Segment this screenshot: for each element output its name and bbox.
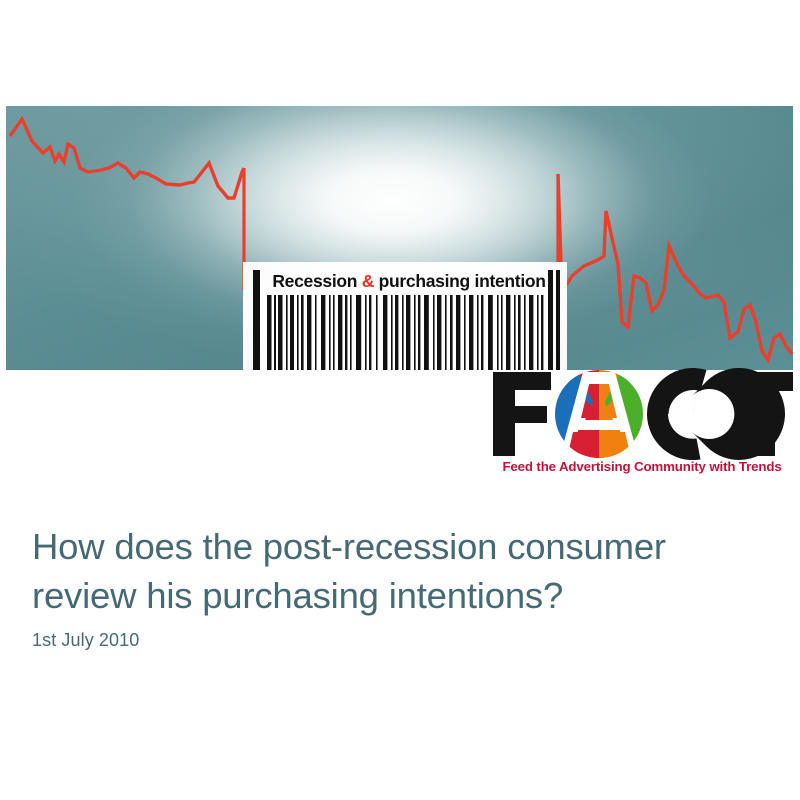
presentation-date: 1st July 2010 [32,630,139,651]
barcode-graphic: Recession & purchasing intention [243,262,567,370]
logo-letter-f-icon [493,372,551,456]
page-title: How does the post-recession consumer rev… [32,523,768,620]
hero-banner: Recession & purchasing intention [6,106,793,370]
fact-logo-mark-icon [489,368,795,460]
barcode-title-prefix: Recession [272,271,361,291]
logo-tagline: Feed the Advertising Community with Tren… [489,460,795,475]
slide-root: Recession & purchasing intention [0,0,800,800]
barcode-title: Recession & purchasing intention [269,273,549,291]
page-title-line-2: review his purchasing intentions? [32,572,768,621]
barcode-title-ampersand: & [362,271,374,291]
barcode-title-suffix: purchasing intention [374,271,546,291]
fact-logo: Feed the Advertising Community with Tren… [489,368,795,482]
page-title-line-1: How does the post-recession consumer [32,523,768,572]
logo-letter-a-wheel-icon [555,370,643,460]
